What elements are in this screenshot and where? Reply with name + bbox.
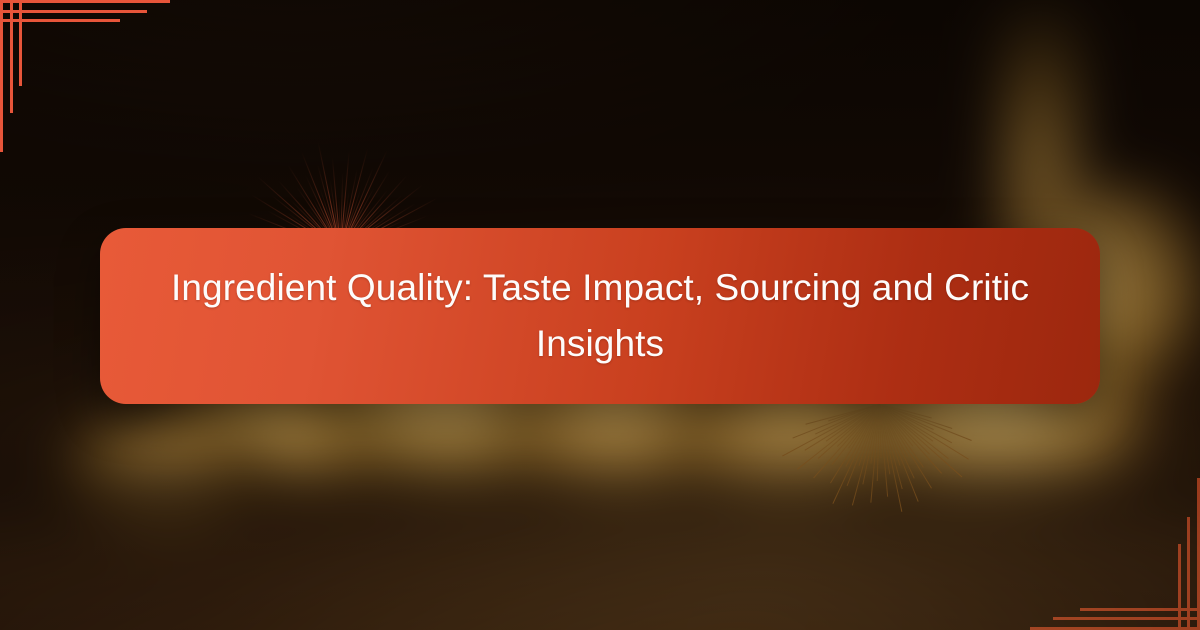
page-title: Ingredient Quality: Taste Impact, Sourci… bbox=[160, 260, 1040, 372]
share-card-canvas: Ingredient Quality: Taste Impact, Sourci… bbox=[0, 0, 1200, 630]
corner-line-horizontal bbox=[1080, 608, 1200, 611]
corner-line-horizontal bbox=[0, 19, 120, 22]
corner-line-vertical bbox=[1187, 517, 1190, 630]
corner-lines-top-left bbox=[0, 0, 260, 170]
corner-line-vertical bbox=[10, 0, 13, 113]
corner-line-vertical bbox=[0, 0, 3, 152]
corner-line-horizontal bbox=[0, 0, 170, 3]
corner-line-horizontal bbox=[1053, 617, 1200, 620]
corner-line-horizontal bbox=[0, 10, 147, 13]
corner-lines-bottom-right bbox=[940, 460, 1200, 630]
title-card: Ingredient Quality: Taste Impact, Sourci… bbox=[100, 228, 1100, 404]
